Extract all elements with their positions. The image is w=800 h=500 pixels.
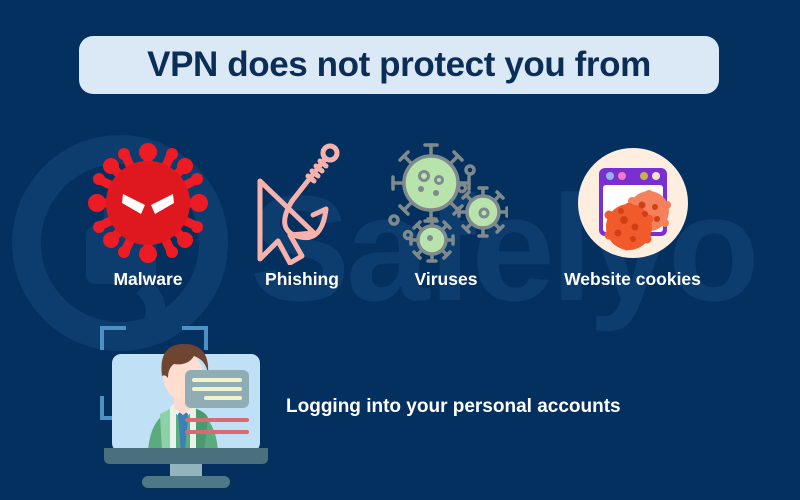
browser-cookies-icon	[577, 147, 689, 259]
viruses-art	[384, 140, 508, 265]
red-virus-angry-face-icon	[81, 141, 215, 265]
infographic-canvas: Safelyo VPN does not protect you from	[0, 0, 800, 500]
fishing-hook-cursor-icon	[252, 141, 352, 265]
malware-art	[81, 140, 215, 265]
website-cookies-art	[577, 140, 689, 265]
threat-label: Phishing	[265, 269, 339, 290]
green-virus-cells-icon	[384, 143, 508, 263]
phishing-art	[252, 140, 352, 265]
threat-item-website-cookies: Website cookies	[545, 140, 720, 305]
threat-item-phishing: Phishing	[238, 140, 366, 305]
bottom-item-label: Logging into your personal accounts	[286, 396, 621, 418]
page-title: VPN does not protect you from	[147, 45, 651, 85]
threat-label: Website cookies	[564, 269, 701, 290]
threat-item-malware: Malware	[68, 140, 228, 305]
logging-in-art	[90, 318, 280, 488]
title-banner: VPN does not protect you from	[79, 36, 719, 94]
monitor-face-id-person-icon	[90, 318, 280, 488]
threat-label: Viruses	[415, 269, 478, 290]
threat-item-viruses: Viruses	[380, 140, 512, 305]
threat-label: Malware	[113, 269, 182, 290]
